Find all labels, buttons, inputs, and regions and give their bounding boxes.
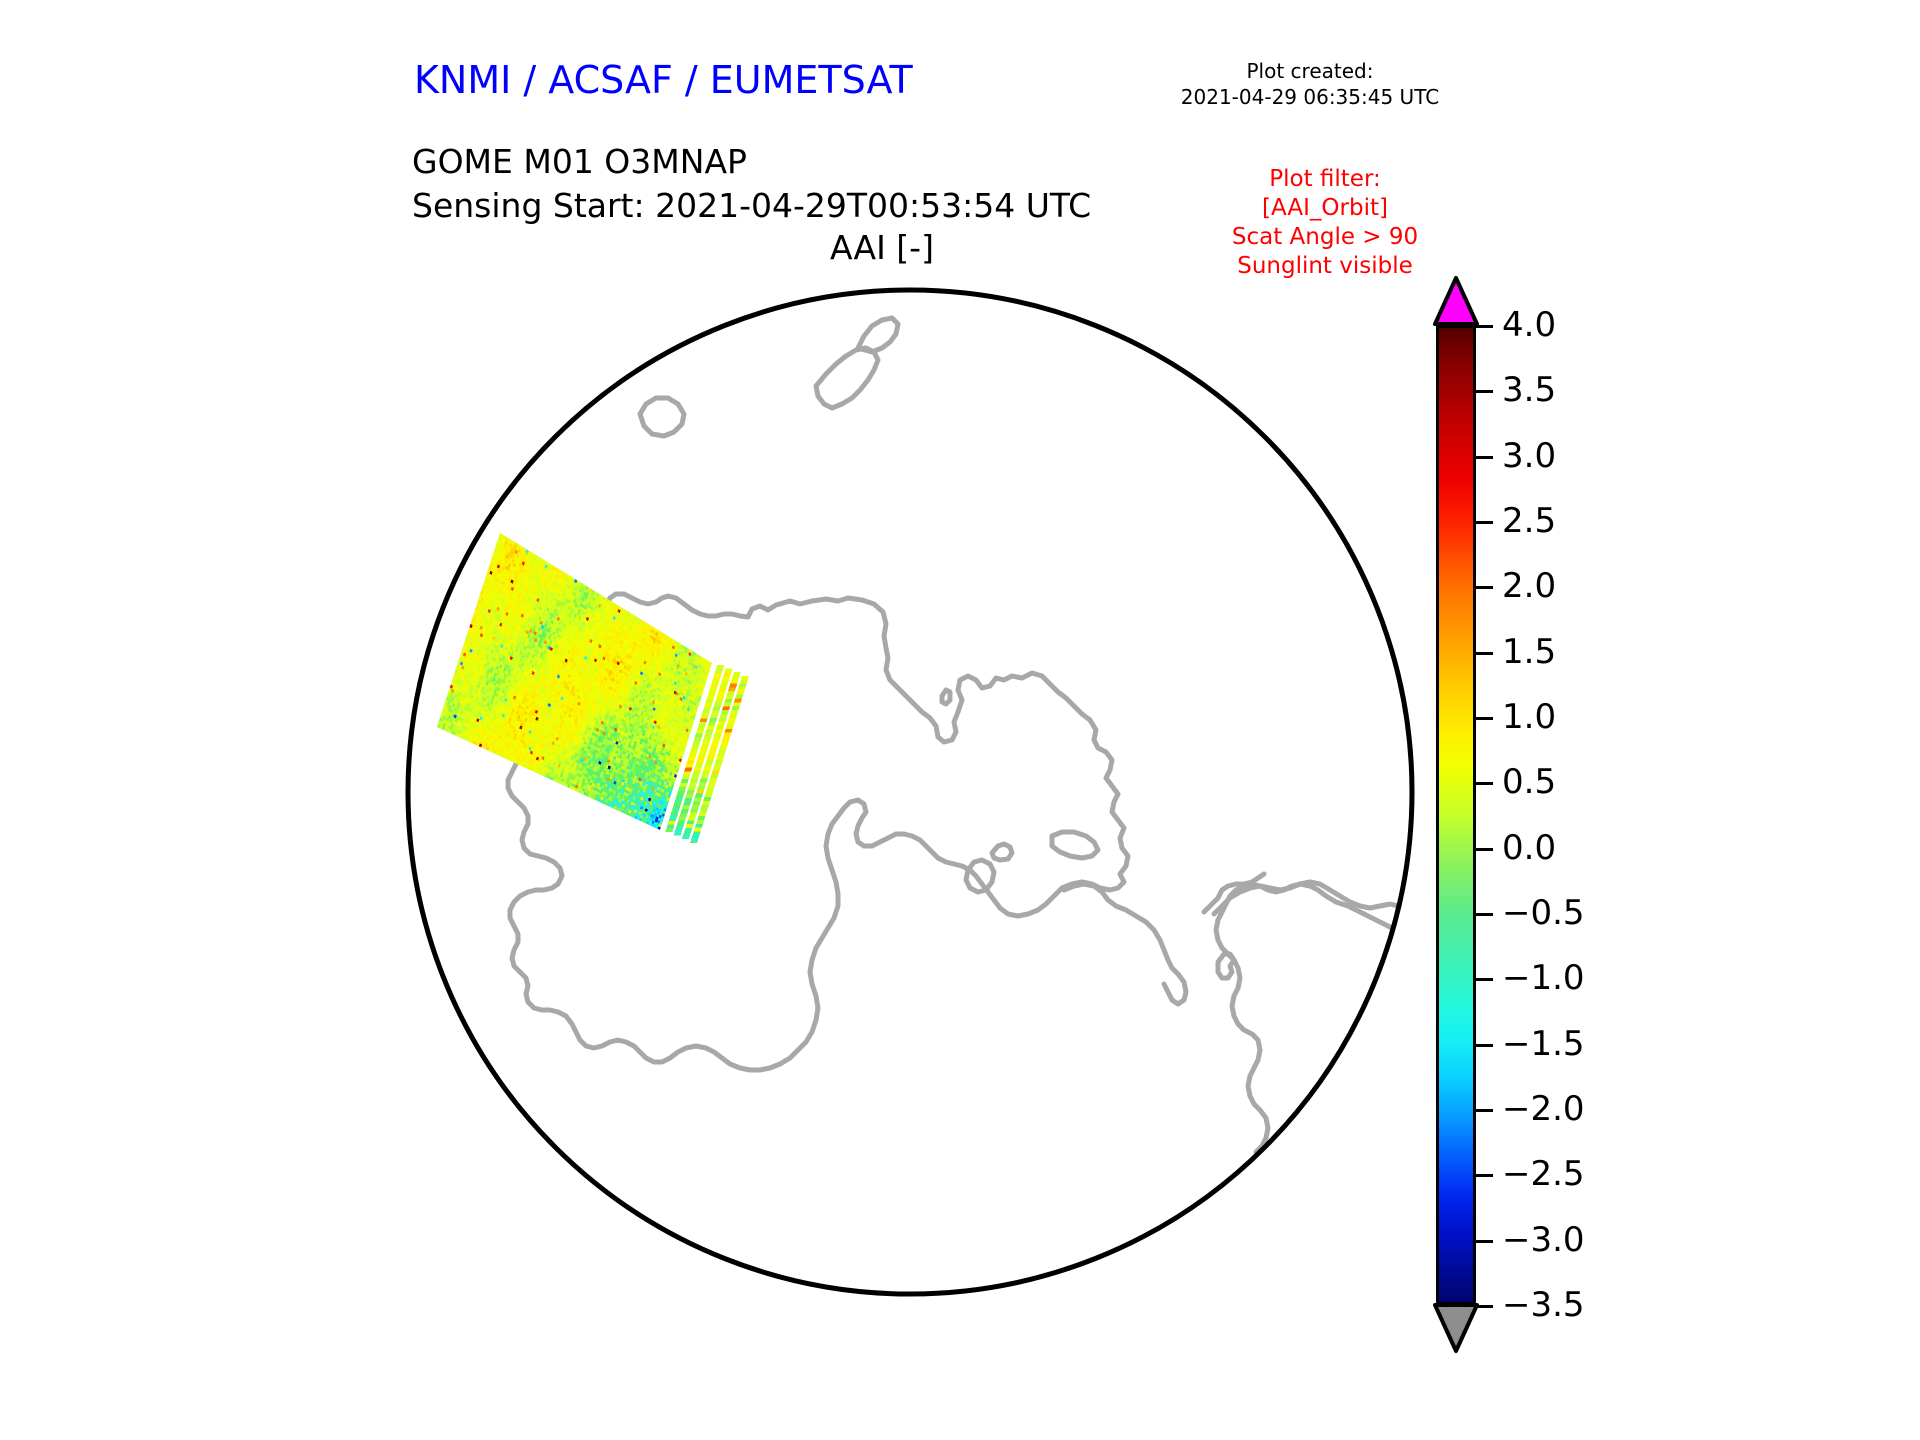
ross-inlet-coastline [992, 844, 1012, 860]
new-zealand-south-island [816, 348, 878, 408]
tasmania-coastline [640, 398, 684, 436]
antarctic-peninsula [1064, 884, 1186, 1004]
aai-swath-layer [420, 520, 749, 850]
peninsula-island [1052, 832, 1098, 858]
south-america-coastline [1216, 884, 1408, 1152]
map-canvas [0, 0, 1450, 1440]
antarctic-small-island [942, 690, 950, 704]
ronne-inlet-coastline [966, 860, 994, 892]
falkland-islands [1218, 954, 1234, 978]
